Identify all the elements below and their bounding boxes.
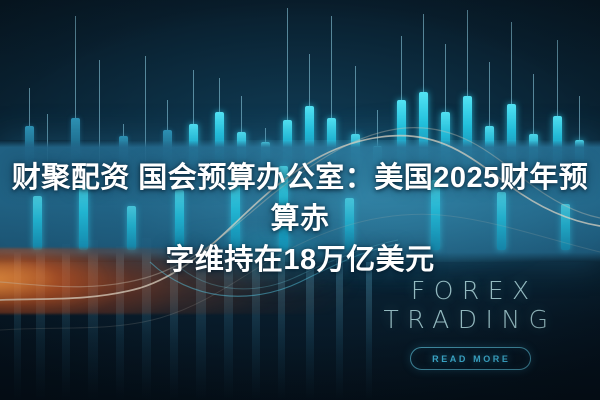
read-more-button[interactable]: READ MORE bbox=[410, 347, 531, 370]
candle-wick bbox=[579, 96, 580, 162]
forex-trading-banner: 财聚配资 国会预算办公室：美国2025财年预算赤 字维持在18万亿美元 FORE… bbox=[0, 0, 600, 400]
candle-wick bbox=[489, 62, 490, 162]
candle-wick bbox=[219, 78, 220, 162]
candle-body bbox=[419, 92, 428, 164]
candle-wick bbox=[47, 114, 48, 162]
candle-wick bbox=[241, 96, 242, 162]
candle-wick bbox=[445, 44, 446, 162]
candle-wick bbox=[423, 14, 424, 162]
candle-body bbox=[25, 126, 34, 162]
candle-wick bbox=[29, 88, 30, 160]
candle-body bbox=[397, 100, 406, 164]
candle-wick bbox=[355, 66, 356, 162]
candle-wick bbox=[467, 10, 468, 162]
candle-wick bbox=[511, 22, 512, 162]
candle-wick bbox=[533, 74, 534, 162]
candle-body bbox=[553, 116, 562, 164]
candle-wick bbox=[377, 110, 378, 162]
candle-wick bbox=[167, 100, 168, 162]
candle-wick bbox=[99, 60, 100, 162]
candle-wick bbox=[193, 70, 194, 162]
brand-block: FOREX TRADING READ MORE bbox=[370, 276, 570, 370]
candle-wick bbox=[309, 54, 310, 162]
candle-body bbox=[507, 104, 516, 164]
candle-wick bbox=[401, 36, 402, 162]
candle-body bbox=[305, 106, 314, 164]
candle-body bbox=[463, 96, 472, 164]
candle-wick bbox=[145, 56, 146, 162]
brand-title: FOREX TRADING bbox=[370, 276, 570, 334]
candle-wick bbox=[287, 8, 288, 162]
page-title: 财聚配资 国会预算办公室：美国2025财年预算赤 字维持在18万亿美元 bbox=[0, 158, 600, 281]
candle-wick bbox=[75, 16, 76, 162]
candle-wick bbox=[557, 40, 558, 162]
candle-body bbox=[215, 112, 224, 164]
candle-body bbox=[71, 118, 80, 162]
candle-wick bbox=[331, 16, 332, 162]
candle-body bbox=[441, 112, 450, 164]
